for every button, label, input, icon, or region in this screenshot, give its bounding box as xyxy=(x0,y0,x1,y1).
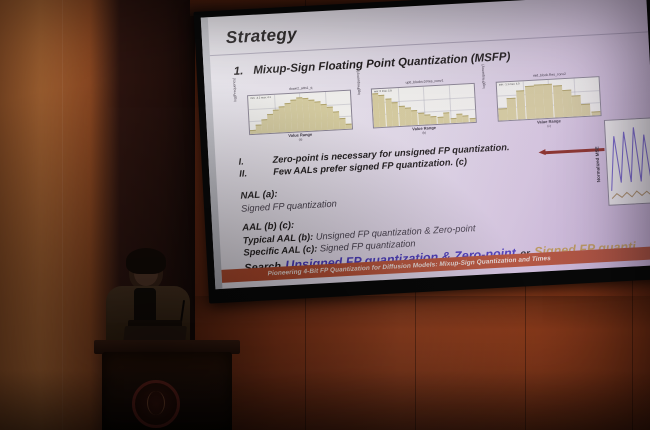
histogram-bar xyxy=(572,95,582,116)
floor-shadow xyxy=(0,370,650,430)
chart-ylabel: log(Frequency) xyxy=(232,78,237,102)
slide-heading: 1.Mixup-Sign Floating Point Quantization… xyxy=(233,51,510,78)
presentation-slide: Strategy 1.Mixup-Sign Floating Point Qua… xyxy=(201,0,650,289)
heading-number: 1. xyxy=(233,65,243,78)
heading-text: Mixup-Sign Floating Point Quantization (… xyxy=(253,51,511,77)
histogram-bar xyxy=(463,115,469,123)
presenter-hair xyxy=(126,248,166,274)
histogram-bar xyxy=(346,123,352,128)
histogram-chart-b: up0_blocks.0.Res_conv1 log(Frequency) mi… xyxy=(357,77,478,139)
chart-plot-area: min: 0 max: 5.9 xyxy=(371,83,477,129)
normalized-mse-chart: Normalized MSE xyxy=(592,113,650,217)
chart-ylabel: log(Frequency) xyxy=(481,64,486,88)
histogram-bar xyxy=(498,109,508,121)
histogram-chart-a: down2_attn1_q log(Frequency) min: -4.2 m… xyxy=(233,84,354,146)
chart-note: min: -1.1 max: 4.0 xyxy=(499,82,520,86)
histogram-bar xyxy=(562,89,572,117)
findings-list: I. Zero-point is necessary for unsigned … xyxy=(238,138,569,180)
chart-ylabel: log(Frequency) xyxy=(356,71,361,95)
mse-lines xyxy=(605,118,650,205)
histogram-chart-c: mid_block.Res_conv2 log(Frequency) min: … xyxy=(481,70,602,132)
mse-plot-area xyxy=(604,117,650,206)
wall-seam xyxy=(62,0,63,430)
histogram-bar xyxy=(469,117,475,122)
finding-marker: II. xyxy=(239,166,274,180)
projection-screen: Strategy 1.Mixup-Sign Floating Point Qua… xyxy=(193,0,650,304)
chart-plot-area: min: -4.2 max: 4.1 xyxy=(247,90,353,136)
lecture-hall-photo: Strategy 1.Mixup-Sign Floating Point Qua… xyxy=(0,0,650,430)
chart-note: min: -4.2 max: 4.1 xyxy=(250,96,271,100)
histogram-bar xyxy=(581,104,591,116)
chart-plot-area: min: -1.1 max: 4.0 xyxy=(496,76,602,122)
histogram-bar xyxy=(591,111,600,115)
nal-block: NAL (a): Signed FP quantization xyxy=(240,186,337,214)
slide-title: Strategy xyxy=(225,24,297,48)
mse-ylabel: Normalized MSE xyxy=(594,146,601,182)
